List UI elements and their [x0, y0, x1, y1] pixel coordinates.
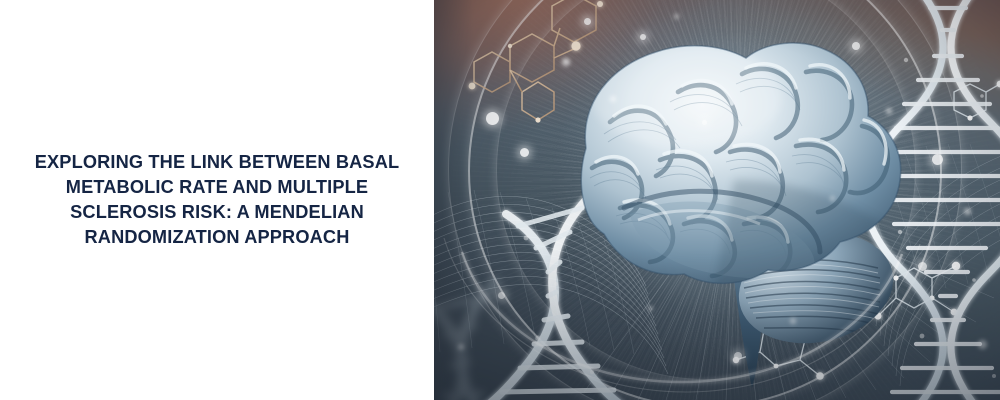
article-hero-banner: Exploring the Link Between Basal Metabol…	[0, 0, 1000, 400]
hero-illustration	[434, 0, 1000, 400]
hero-left-edge	[434, 0, 1000, 400]
page-title: Exploring the Link Between Basal Metabol…	[3, 150, 431, 250]
title-panel: Exploring the Link Between Basal Metabol…	[0, 0, 434, 400]
